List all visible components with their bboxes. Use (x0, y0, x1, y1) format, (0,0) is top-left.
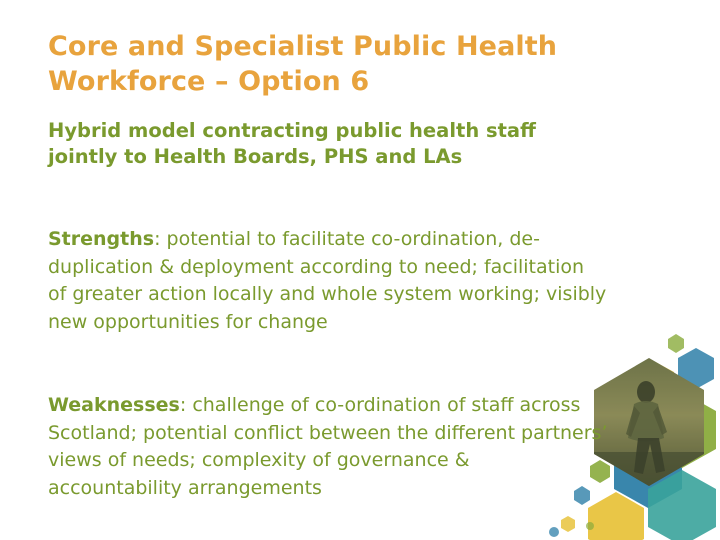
strengths-separator: : (154, 228, 166, 250)
strengths-label: Strengths (48, 228, 154, 250)
weaknesses-separator: : (180, 394, 192, 416)
weaknesses-label: Weaknesses (48, 394, 180, 416)
weaknesses-paragraph: Weaknesses: challenge of co-ordination o… (48, 392, 608, 503)
strengths-paragraph: Strengths: potential to facilitate co-or… (48, 226, 608, 337)
slide-title: Core and Specialist Public Health Workfo… (48, 30, 608, 99)
slide-subtitle: Hybrid model contracting public health s… (48, 118, 593, 169)
slide-canvas: Core and Specialist Public Health Workfo… (0, 0, 720, 540)
